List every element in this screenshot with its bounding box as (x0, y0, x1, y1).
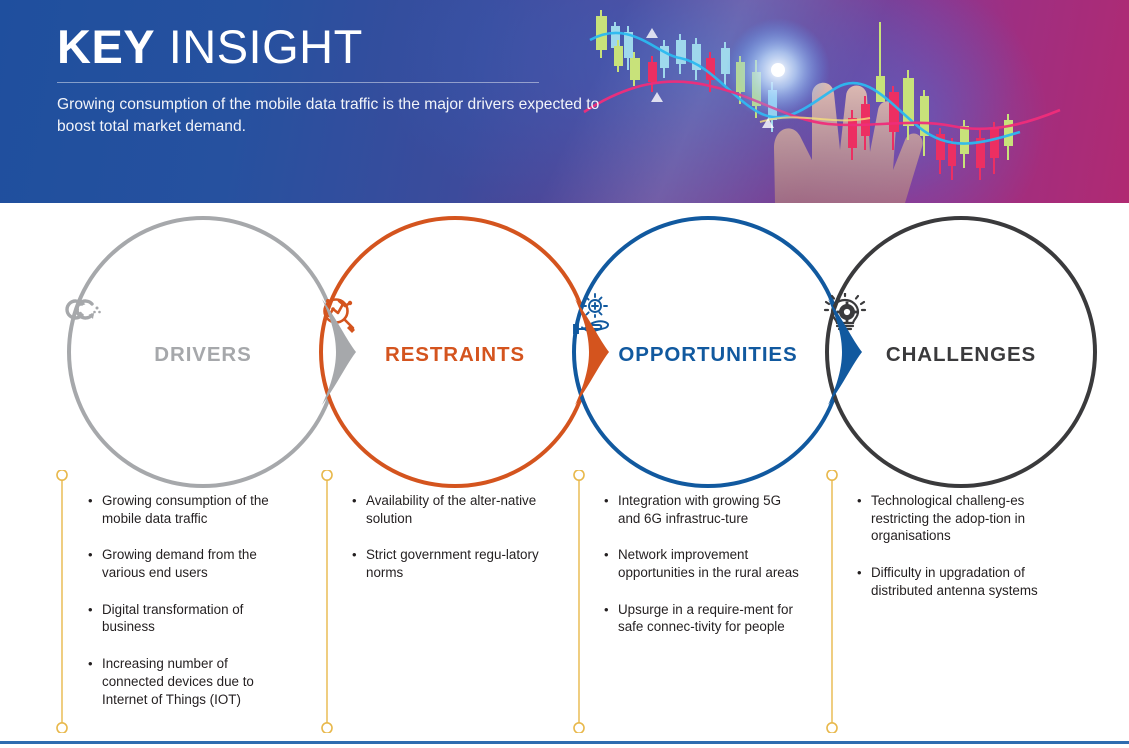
list-item-text: Digital transformation of business (102, 601, 293, 636)
process-circle-row: DRIVERS (0, 203, 1129, 503)
bullet-marker: • (88, 546, 102, 581)
bullet-marker: • (604, 546, 618, 581)
list-item: • Upsurge in a require-ment for safe con… (604, 601, 804, 636)
divider-2 (320, 470, 334, 733)
arrow-drivers-to-restraints (316, 203, 376, 493)
list-item: • Integration with growing 5G and 6G inf… (604, 492, 804, 527)
arrow-restraints-to-opportunities (569, 203, 629, 493)
title-light-word: INSIGHT (155, 20, 363, 73)
bullet-marker: • (857, 564, 871, 599)
node-label-challenges: CHALLENGES (886, 343, 1036, 367)
divider-1 (55, 470, 69, 733)
header-banner: KEY INSIGHT Growing consumption of the m… (0, 0, 1129, 203)
node-drivers[interactable]: DRIVERS (65, 203, 341, 493)
title-divider-rule (57, 82, 539, 83)
bottom-accent-rule (0, 741, 1129, 744)
column-challenges: • Technological challeng-es restricting … (857, 492, 1057, 618)
list-item-text: Growing consumption of the mobile data t… (102, 492, 293, 527)
node-label-opportunities: OPPORTUNITIES (618, 343, 797, 367)
list-item-text: Strict government regu-latory norms (366, 546, 552, 581)
bullet-marker: • (88, 601, 102, 636)
bullet-marker: • (604, 601, 618, 636)
list-item: • Availability of the alter-native solut… (352, 492, 552, 527)
node-label-drivers: DRIVERS (154, 343, 251, 367)
list-item: • Strict government regu-latory norms (352, 546, 552, 581)
column-drivers: • Growing consumption of the mobile data… (88, 492, 293, 727)
arrow-opportunities-to-challenges (822, 203, 882, 493)
list-item-text: Increasing number of connected devices d… (102, 655, 293, 708)
list-item-text: Availability of the alter-native solutio… (366, 492, 552, 527)
list-item: • Increasing number of connected devices… (88, 655, 293, 708)
bullet-marker: • (857, 492, 871, 545)
node-label-restraints: RESTRAINTS (385, 343, 525, 367)
divider-4 (825, 470, 839, 733)
list-item: • Growing demand from the various end us… (88, 546, 293, 581)
list-item-text: Technological challeng-es restricting th… (871, 492, 1057, 545)
page-subtitle: Growing consumption of the mobile data t… (57, 94, 602, 137)
bullet-marker: • (88, 655, 102, 708)
page-title: KEY INSIGHT (57, 22, 617, 71)
bullet-marker: • (604, 492, 618, 527)
column-opportunities: • Integration with growing 5G and 6G inf… (604, 492, 804, 655)
list-item: • Difficulty in upgradation of distribut… (857, 564, 1057, 599)
list-item-text: Upsurge in a require-ment for safe conne… (618, 601, 804, 636)
list-item-text: Difficulty in upgradation of distributed… (871, 564, 1057, 599)
divider-3 (572, 470, 586, 733)
column-restraints: • Availability of the alter-native solut… (352, 492, 552, 601)
header-artwork-candlestick-chart (560, 0, 1129, 203)
list-item-text: Integration with growing 5G and 6G infra… (618, 492, 804, 527)
title-bold-word: KEY (57, 20, 155, 73)
bullet-marker: • (352, 492, 366, 527)
list-item-text: Network improvement opportunities in the… (618, 546, 804, 581)
list-item: • Network improvement opportunities in t… (604, 546, 804, 581)
list-item: • Digital transformation of business (88, 601, 293, 636)
list-item-text: Growing demand from the various end user… (102, 546, 293, 581)
bullet-marker: • (88, 492, 102, 527)
list-item: • Technological challeng-es restricting … (857, 492, 1057, 545)
bullet-marker: • (352, 546, 366, 581)
bullet-columns: • Growing consumption of the mobile data… (0, 470, 1129, 748)
key-insight-infographic: KEY INSIGHT Growing consumption of the m… (0, 0, 1129, 748)
title-block: KEY INSIGHT Growing consumption of the m… (57, 22, 617, 137)
list-item: • Growing consumption of the mobile data… (88, 492, 293, 527)
